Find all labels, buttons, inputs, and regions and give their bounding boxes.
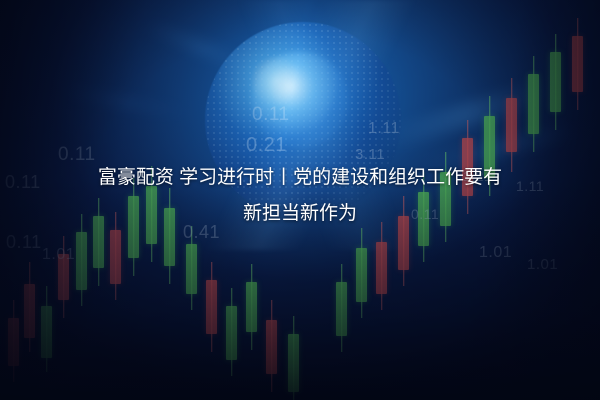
headline-line-1: 富豪配资 学习进行时丨党的建设和组织工作要有 bbox=[98, 167, 502, 188]
headline-text: 富豪配资 学习进行时丨党的建设和组织工作要有 新担当新作为 bbox=[0, 160, 600, 232]
headline-line-2: 新担当新作为 bbox=[12, 196, 588, 232]
article-cover-image: 0.111.110.210.113.110.111.211.110.110.41… bbox=[0, 0, 600, 400]
